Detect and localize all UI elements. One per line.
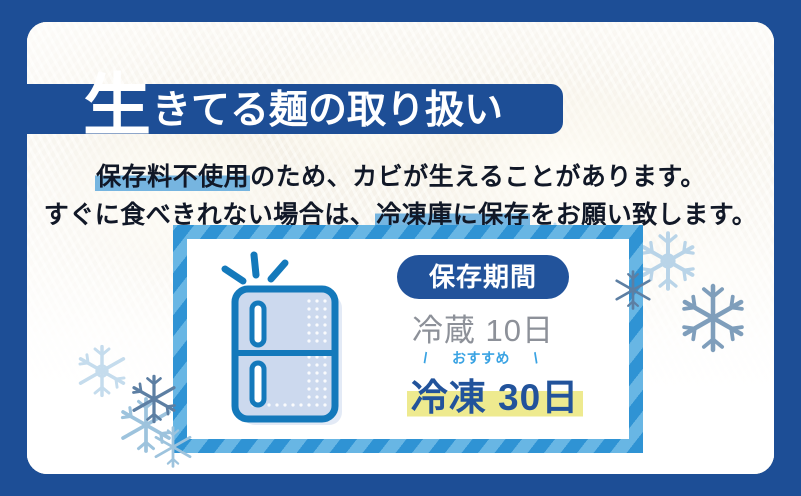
poster-root: 生きてる麺の取り扱い 保存料不使用のため、カビが生えることがあります。 すぐに食… bbox=[0, 0, 801, 496]
refrigerator-illustration bbox=[209, 247, 369, 431]
storage-row-chilled: 冷蔵 10日 bbox=[397, 305, 569, 350]
storage-info: 保存期間 冷蔵 10日 \ おすすめ / 冷凍 30日 bbox=[383, 255, 619, 421]
page-title: 生きてる麺の取り扱い bbox=[83, 58, 503, 134]
description-highlight-1: 保存料不使用 bbox=[95, 163, 250, 191]
storage-card-frame: 保存期間 冷蔵 10日 \ おすすめ / 冷凍 30日 bbox=[173, 225, 643, 453]
storage-row-frozen-text: 冷凍 30日 bbox=[407, 377, 583, 418]
recommended-label-text: おすすめ bbox=[452, 350, 510, 366]
description-text: 保存料不使用のため、カビが生えることがあります。 すぐに食べきれない場合は、冷凍… bbox=[27, 158, 774, 234]
sparkle-icon bbox=[225, 255, 285, 281]
snowflake-icon-6 bbox=[127, 372, 181, 426]
snowflake-icon-4 bbox=[73, 342, 131, 400]
recommended-label: \ おすすめ / bbox=[421, 348, 541, 368]
slash-left-icon: \ bbox=[420, 350, 430, 368]
slash-right-icon: / bbox=[532, 350, 542, 368]
storage-card: 保存期間 冷蔵 10日 \ おすすめ / 冷凍 30日 bbox=[187, 239, 629, 439]
title-first-char: 生 bbox=[83, 72, 150, 140]
storage-row-frozen: 冷凍 30日 bbox=[389, 367, 601, 421]
description-line-1-rest: のため、カビが生えることがあります。 bbox=[250, 163, 706, 191]
title-rest: きてる麺の取り扱い bbox=[152, 91, 503, 130]
description-line-1: 保存料不使用のため、カビが生えることがあります。 bbox=[27, 158, 774, 196]
snowflake-icon-8 bbox=[611, 268, 655, 312]
snowflake-icon-7 bbox=[150, 424, 196, 470]
content-panel: 生きてる麺の取り扱い 保存料不使用のため、カビが生えることがあります。 すぐに食… bbox=[27, 22, 774, 474]
status-badge: 保存期間 bbox=[397, 255, 569, 299]
snowflake-icon-2 bbox=[675, 280, 751, 356]
